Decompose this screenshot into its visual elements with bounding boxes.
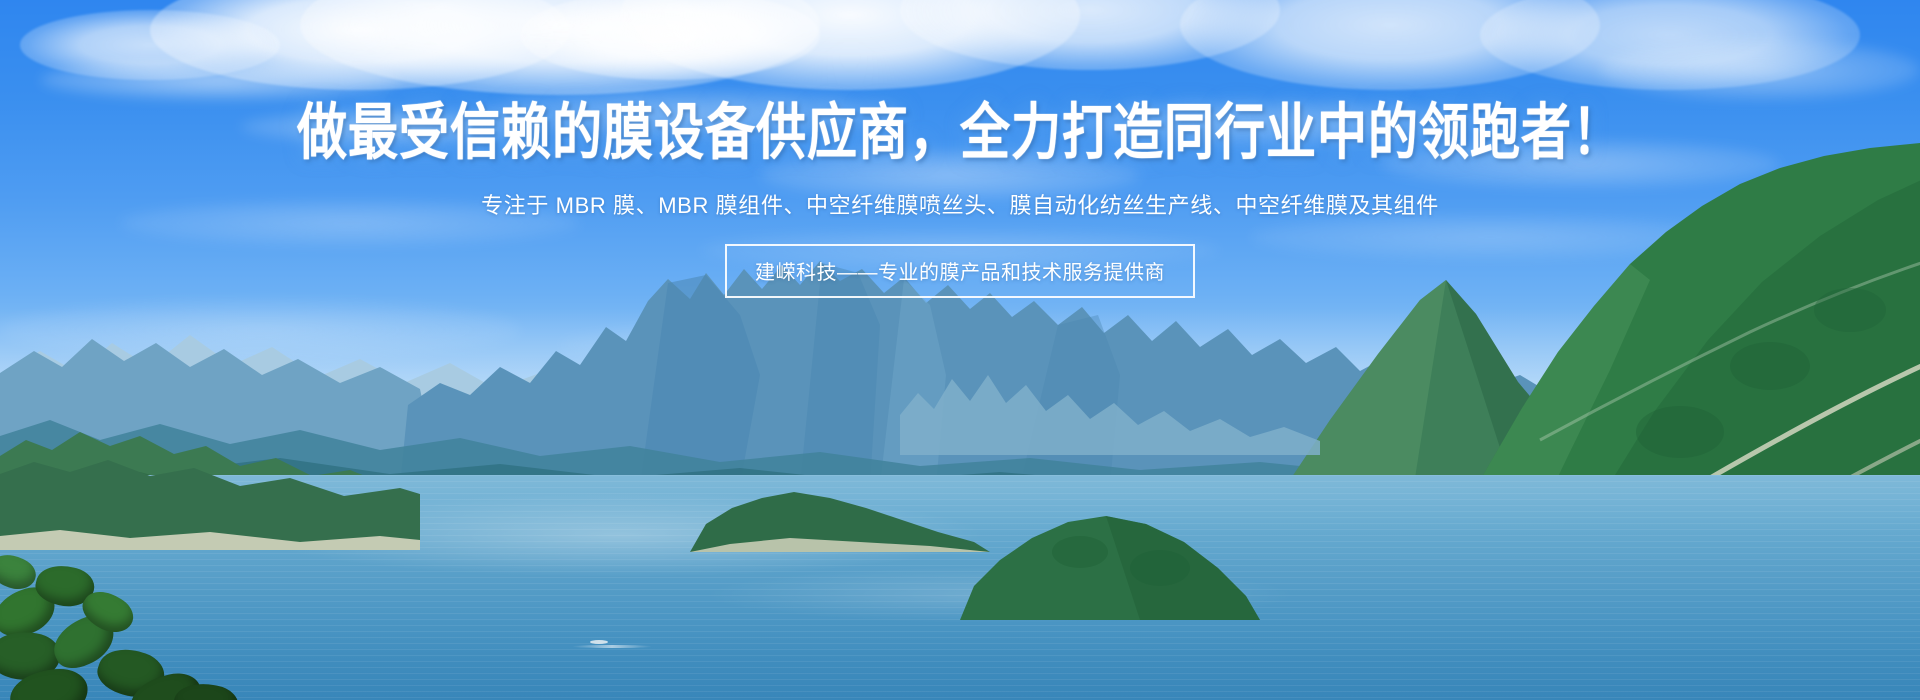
banner-copy: 做最受信赖的膜设备供应商，全力打造同行业中的领跑者！ 专注于 MBR 膜、MBR… <box>0 0 1920 298</box>
banner-tagline-wrap: 建嵘科技——专业的膜产品和技术服务提供商 <box>0 244 1920 298</box>
boat-wake <box>572 645 652 648</box>
banner-tagline: 建嵘科技——专业的膜产品和技术服务提供商 <box>725 244 1195 298</box>
island-center <box>690 472 990 552</box>
banner-headline: 做最受信赖的膜设备供应商，全力打造同行业中的领跑者！ <box>0 98 1920 166</box>
banner-subheadline: 专注于 MBR 膜、MBR 膜组件、中空纤维膜喷丝头、膜自动化纺丝生产线、中空纤… <box>0 188 1920 220</box>
island-foreground <box>960 490 1260 620</box>
boat <box>590 640 608 644</box>
hero-banner: 做最受信赖的膜设备供应商，全力打造同行业中的领跑者！ 专注于 MBR 膜、MBR… <box>0 0 1920 700</box>
shore-left <box>0 440 420 550</box>
